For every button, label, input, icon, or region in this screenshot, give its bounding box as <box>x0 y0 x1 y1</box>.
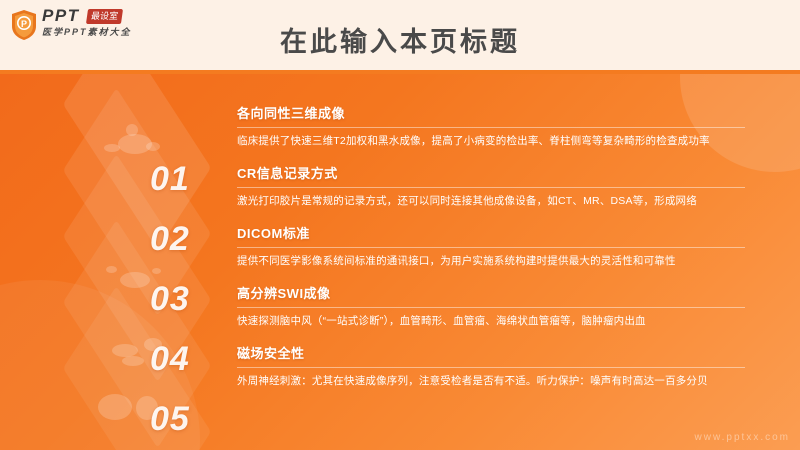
brand-logo[interactable]: P PPT 最设室 医学PPT素材大全 <box>8 6 208 46</box>
item-description: 激光打印胶片是常规的记录方式，还可以同时连接其他成像设备，如CT、MR、DSA等… <box>237 194 745 208</box>
blob-decoration <box>126 124 138 136</box>
item-description: 快速探测脑中风（“一站式诊断”），血管畸形、血管瘤、海绵状血管瘤等，脑肿瘤内出血 <box>237 314 745 328</box>
item-divider <box>237 187 745 188</box>
item-divider <box>237 127 745 128</box>
step-number-04: 04 <box>150 340 190 379</box>
item-description: 临床提供了快速三维T2加权和黑水成像，提高了小病变的检出率、脊柱侧弯等复杂畸形的… <box>237 134 745 148</box>
item-heading: DICOM标准 <box>237 220 745 242</box>
list-item[interactable]: 各向同性三维成像 临床提供了快速三维T2加权和黑水成像，提高了小病变的检出率、脊… <box>237 100 745 160</box>
blob-decoration <box>146 142 160 151</box>
item-heading: 高分辨SWI成像 <box>237 280 745 302</box>
blob-decoration <box>122 356 144 366</box>
blob-decoration <box>120 272 150 288</box>
blob-decoration <box>152 268 161 274</box>
logo-brand-text: PPT <box>42 7 80 25</box>
blob-decoration <box>98 394 132 420</box>
step-number-05: 05 <box>150 400 190 439</box>
blob-decoration <box>106 266 117 273</box>
shield-icon: P <box>10 9 38 41</box>
body-area: 01 02 03 04 05 各向同性三维成像 临床提供了快速三维T2加权和黑水… <box>0 72 800 450</box>
blob-decoration <box>104 144 120 152</box>
item-description: 提供不同医学影像系统间标准的通讯接口，为用户实施系统构建时提供最大的灵活性和可靠… <box>237 254 745 268</box>
item-heading: CR信息记录方式 <box>237 160 745 182</box>
item-heading: 磁场安全性 <box>237 340 745 362</box>
content-list: 各向同性三维成像 临床提供了快速三维T2加权和黑水成像，提高了小病变的检出率、脊… <box>237 100 745 400</box>
item-divider <box>237 307 745 308</box>
item-description: 外周神经刺激：尤其在快速成像序列，注意受检者是否有不适。听力保护：噪声有时高达一… <box>237 374 745 388</box>
list-item[interactable]: 磁场安全性 外周神经刺激：尤其在快速成像序列，注意受检者是否有不适。听力保护：噪… <box>237 340 745 400</box>
list-item[interactable]: 高分辨SWI成像 快速探测脑中风（“一站式诊断”），血管畸形、血管瘤、海绵状血管… <box>237 280 745 340</box>
logo-text-block: PPT 最设室 医学PPT素材大全 <box>42 7 202 38</box>
logo-subtitle: 医学PPT素材大全 <box>42 26 202 38</box>
list-item[interactable]: CR信息记录方式 激光打印胶片是常规的记录方式，还可以同时连接其他成像设备，如C… <box>237 160 745 220</box>
header-accent-rule <box>0 70 800 74</box>
logo-badge: 最设室 <box>86 9 123 24</box>
item-heading: 各向同性三维成像 <box>237 100 745 122</box>
step-number-03: 03 <box>150 280 190 319</box>
list-item[interactable]: DICOM标准 提供不同医学影像系统间标准的通讯接口，为用户实施系统构建时提供最… <box>237 220 745 280</box>
slide-root: P PPT 最设室 医学PPT素材大全 在此输入本页标题 <box>0 0 800 450</box>
step-number-02: 02 <box>150 220 190 259</box>
item-divider <box>237 367 745 368</box>
item-divider <box>237 247 745 248</box>
step-number-01: 01 <box>150 160 190 199</box>
svg-text:P: P <box>21 19 27 29</box>
site-watermark: www.pptxx.com <box>695 432 790 443</box>
